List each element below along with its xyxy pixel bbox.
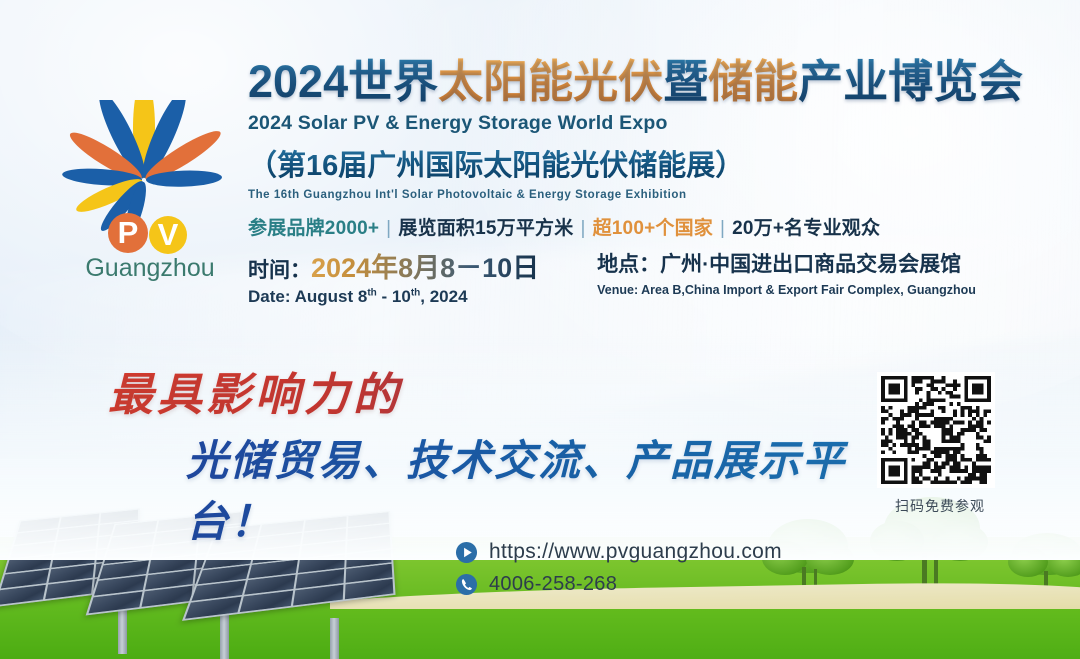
date-sup-2: th — [411, 288, 420, 299]
date-sup-1: th — [367, 288, 376, 299]
stats-separator-2: | — [580, 218, 585, 239]
date-venue-row: 时间：2024年8月8－10日 Date: August 8th - 10th,… — [248, 252, 1048, 308]
phone-circle-icon — [455, 573, 478, 596]
main-title-part-3: 暨 — [663, 56, 708, 107]
main-title-part-2: 太阳能光伏 — [438, 56, 663, 107]
main-title-cn: 2024世界太阳能光伏暨储能产业博览会 — [248, 58, 1048, 106]
phone-number[interactable]: 4006-258-268 — [489, 573, 617, 596]
date-en-head: Date: August 8 — [248, 287, 367, 306]
date-en-line: Date: August 8th - 10th, 2024 — [248, 287, 539, 307]
logo-sunburst-icon: P V Guangzhou — [58, 100, 238, 285]
slogan-line-2: 光储贸易、技术交流、产品展示平台！ — [186, 427, 898, 549]
date-label-cn: 时间： — [248, 259, 311, 282]
venue-column: 地点：广州·中国进出口商品交易会展馆 Venue: Area B,China I… — [597, 252, 976, 297]
venue-value-cn: 广州·中国进出口商品交易会展馆 — [660, 253, 961, 276]
date-cn-line: 时间：2024年8月8－10日 — [248, 252, 539, 286]
sub-title-cn: （第16届广州国际太阳能光伏储能展） — [248, 142, 1048, 184]
header-text-block: 2024世界太阳能光伏暨储能产业博览会 2024 Solar PV & Ener… — [248, 58, 1048, 307]
play-circle-icon — [455, 541, 478, 564]
pv-guangzhou-logo: P V Guangzhou — [58, 100, 238, 285]
venue-cn-line: 地点：广州·中国进出口商品交易会展馆 — [597, 252, 976, 278]
stat-brands: 参展品牌2000+ — [248, 218, 379, 239]
venue-en-line: Venue: Area B,China Import & Export Fair… — [597, 283, 976, 297]
stat-countries: 超100+个国家 — [593, 218, 713, 239]
logo-letter-v: V — [158, 217, 179, 252]
slogan-block: 最具影响力的 光储贸易、技术交流、产品展示平台！ — [108, 358, 898, 549]
website-url[interactable]: https://www.pvguangzhou.com — [489, 540, 782, 564]
date-column: 时间：2024年8月8－10日 Date: August 8th - 10th,… — [248, 252, 539, 308]
date-en-mid: - 10 — [377, 287, 411, 306]
contact-block: https://www.pvguangzhou.com 4006-258-268 — [455, 540, 782, 605]
logo-city-label: Guangzhou — [85, 254, 214, 282]
main-title-part-4: 储能 — [708, 56, 798, 107]
qr-code-canvas — [881, 376, 991, 484]
stat-area: 展览面积15万平方米 — [398, 218, 573, 239]
qr-caption: 扫码免费参观 — [877, 496, 1003, 516]
main-title-en: 2024 Solar PV & Energy Storage World Exp… — [248, 112, 1048, 135]
date-en-tail: , 2024 — [420, 287, 467, 306]
stat-visitors: 20万+名专业观众 — [732, 218, 880, 239]
website-row[interactable]: https://www.pvguangzhou.com — [455, 540, 782, 564]
venue-label-cn: 地点： — [597, 253, 660, 276]
main-title-part-1: 2024世界 — [248, 56, 438, 107]
stats-row: 参展品牌2000+|展览面积15万平方米|超100+个国家|20万+名专业观众 — [248, 213, 1048, 240]
slogan-line-1: 最具影响力的 — [108, 358, 898, 423]
stats-separator-1: | — [386, 218, 391, 239]
stats-separator-3: | — [720, 218, 725, 239]
logo-letter-p: P — [118, 215, 139, 250]
phone-row[interactable]: 4006-258-268 — [455, 573, 782, 596]
main-title-part-5: 产业博览会 — [798, 56, 1023, 107]
sub-title-en: The 16th Guangzhou Int'l Solar Photovolt… — [248, 189, 1048, 201]
date-value-cn: 2024年8月8－10日 — [311, 253, 539, 283]
qr-code-block: 扫码免费参观 — [877, 372, 1003, 516]
qr-code-image[interactable] — [877, 372, 995, 488]
expo-poster: P V Guangzhou 2024世界太阳能光伏暨储能产业博览会 2024 S… — [0, 0, 1080, 659]
